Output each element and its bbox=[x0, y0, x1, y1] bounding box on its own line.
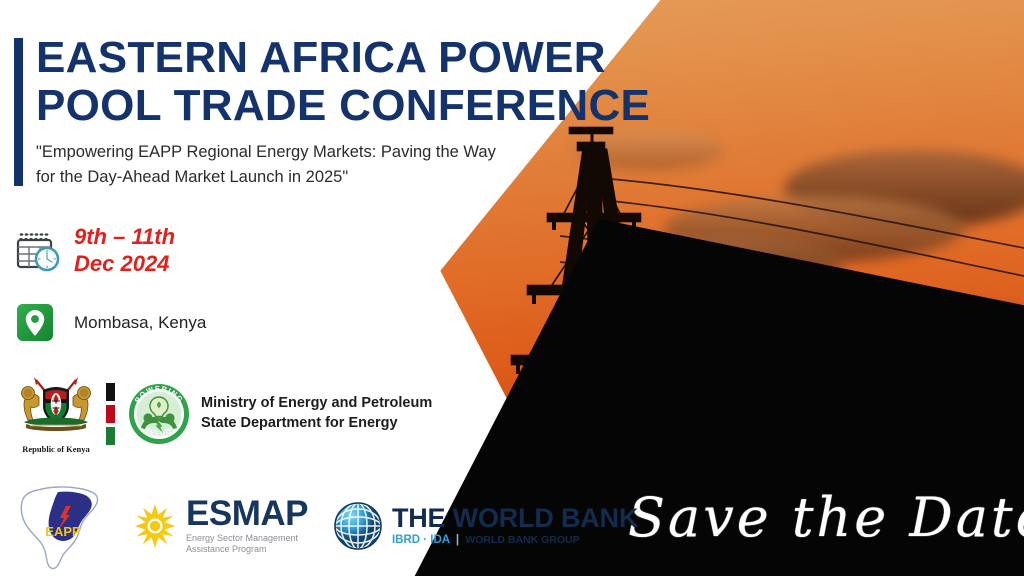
event-date-text: 9th – 11th Dec 2024 bbox=[74, 224, 175, 278]
esmap-logo: ESMAP Energy Sector Management Assistanc… bbox=[132, 497, 308, 556]
page-title-line-1: EASTERN AFRICA POWER bbox=[36, 34, 596, 82]
esmap-text: ESMAP Energy Sector Management Assistanc… bbox=[186, 497, 308, 556]
page-title: EASTERN AFRICA POWER POOL TRADE CONFEREN… bbox=[36, 34, 596, 129]
save-the-date-text: Save the Date bbox=[628, 486, 1024, 549]
event-date-row: 9th – 11th Dec 2024 bbox=[14, 224, 175, 278]
ministry-row: Republic of Kenya POWERING FREEDOM bbox=[14, 374, 432, 454]
eapp-label: EAPP bbox=[45, 524, 81, 539]
world-bank-logo: THE WORLD BANK IBRD · IDA | WORLD BANK G… bbox=[332, 500, 638, 552]
event-date-line-1: 9th – 11th bbox=[74, 224, 175, 251]
cloud bbox=[574, 130, 724, 170]
poster-canvas: Save the Date EASTERN AFRICA POWER POOL … bbox=[0, 0, 1024, 576]
event-date-line-2: Dec 2024 bbox=[74, 251, 175, 278]
ministry-name: Ministry of Energy and Petroleum State D… bbox=[201, 394, 432, 433]
page-title-line-2: POOL TRADE CONFERENCE bbox=[36, 82, 596, 130]
esmap-name: ESMAP bbox=[186, 497, 308, 530]
calendar-clock-icon bbox=[14, 228, 60, 274]
powering-freedom-emblem-icon: POWERING FREEDOM bbox=[127, 382, 191, 446]
world-bank-sub-right: WORLD BANK GROUP bbox=[465, 534, 579, 546]
world-bank-sub-divider: | bbox=[456, 534, 459, 546]
event-location-text: Mombasa, Kenya bbox=[74, 313, 206, 333]
ministry-name-line-2: State Department for Energy bbox=[201, 414, 432, 434]
map-pin-icon bbox=[14, 302, 58, 344]
ministry-name-line-1: Ministry of Energy and Petroleum bbox=[201, 394, 432, 414]
world-bank-sub-left: IBRD · IDA bbox=[392, 534, 450, 546]
globe-icon bbox=[332, 500, 384, 552]
esmap-tagline-line-1: Energy Sector Management bbox=[186, 533, 308, 544]
page-subtitle: "Empowering EAPP Regional Energy Markets… bbox=[36, 140, 506, 190]
esmap-tagline-line-2: Assistance Program bbox=[186, 544, 308, 555]
partner-logos-row: EAPP ESMAP Energy Sector Management Assi… bbox=[18, 482, 638, 570]
world-bank-name: THE WORLD BANK bbox=[392, 505, 638, 532]
world-bank-text: THE WORLD BANK IBRD · IDA | WORLD BANK G… bbox=[392, 505, 638, 548]
eapp-africa-map-icon: EAPP bbox=[18, 482, 110, 570]
event-location-row: Mombasa, Kenya bbox=[14, 302, 206, 344]
title-accent-bar bbox=[14, 38, 23, 186]
kenya-flag-divider bbox=[106, 383, 115, 445]
coat-of-arms-icon bbox=[14, 374, 98, 438]
kenya-coat-of-arms: Republic of Kenya bbox=[14, 374, 98, 454]
coat-of-arms-caption: Republic of Kenya bbox=[14, 444, 98, 454]
sunburst-icon bbox=[132, 503, 178, 549]
